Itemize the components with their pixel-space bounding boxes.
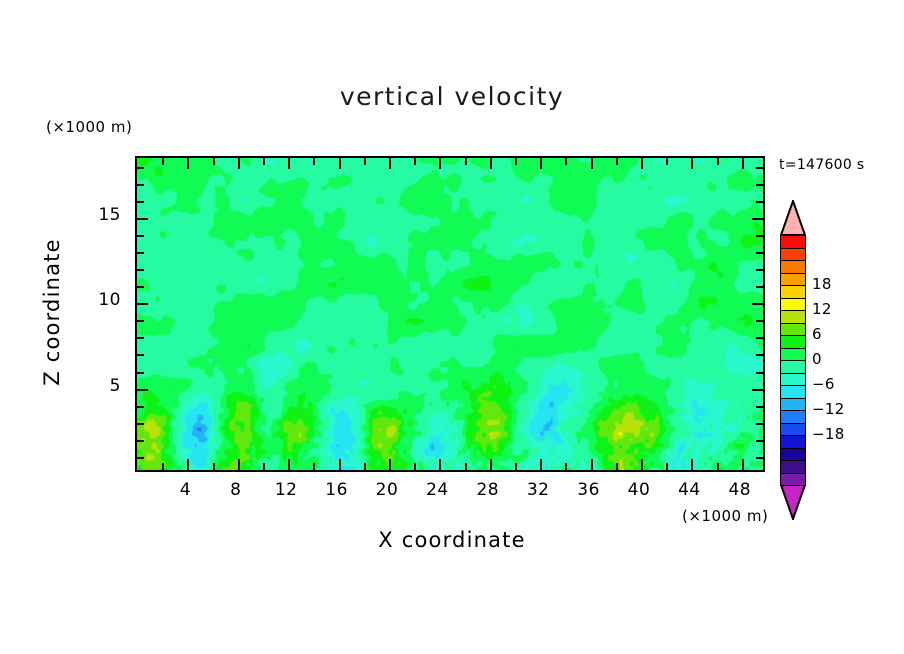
colorbar-band xyxy=(780,348,806,362)
colorbar-band xyxy=(780,410,806,424)
y-axis-title: Z coordinate xyxy=(40,202,64,422)
colorbar-band xyxy=(780,235,806,249)
colorbar-band xyxy=(780,423,806,437)
x-tick-top xyxy=(641,156,643,169)
x-tick-bottom xyxy=(616,463,618,472)
x-tick-label: 24 xyxy=(415,480,459,500)
x-tick-bottom xyxy=(666,463,668,472)
x-tick-top xyxy=(162,156,164,165)
y-tick-right xyxy=(756,252,765,254)
x-tick-top xyxy=(389,156,391,169)
y-tick-left xyxy=(135,167,144,169)
y-tick-left xyxy=(135,440,144,442)
y-tick-right xyxy=(756,201,765,203)
x-tick-bottom xyxy=(288,459,290,472)
x-tick-top xyxy=(490,156,492,169)
x-tick-bottom xyxy=(565,463,567,472)
x-tick-top xyxy=(213,156,215,165)
x-tick-top xyxy=(666,156,668,165)
x-tick-top xyxy=(616,156,618,165)
y-tick-right xyxy=(756,269,765,271)
colorbar-overflow-high-cap xyxy=(780,200,806,235)
x-tick-top xyxy=(414,156,416,165)
velocity-field-canvas xyxy=(137,158,763,470)
x-tick-bottom xyxy=(389,459,391,472)
x-tick-bottom xyxy=(641,459,643,472)
x-tick-label: 32 xyxy=(516,480,560,500)
x-tick-bottom xyxy=(591,459,593,472)
x-tick-bottom xyxy=(313,463,315,472)
colorbar-band xyxy=(780,260,806,274)
y-tick-left xyxy=(135,389,148,391)
y-tick-right xyxy=(756,372,765,374)
x-tick-bottom xyxy=(187,459,189,472)
x-tick-top xyxy=(238,156,240,169)
colorbar-band xyxy=(780,335,806,349)
x-tick-bottom xyxy=(515,463,517,472)
x-tick-label: 16 xyxy=(315,480,359,500)
x-axis-title: X coordinate xyxy=(0,528,904,552)
y-tick-right xyxy=(756,423,765,425)
x-tick-label: 36 xyxy=(567,480,611,500)
y-tick-left xyxy=(135,320,144,322)
y-tick-right xyxy=(752,218,765,220)
x-tick-top xyxy=(288,156,290,169)
x-tick-label: 12 xyxy=(264,480,308,500)
y-tick-right xyxy=(756,167,765,169)
y-tick-left xyxy=(135,218,148,220)
y-tick-right xyxy=(756,184,765,186)
y-tick-right xyxy=(756,337,765,339)
x-tick-top xyxy=(364,156,366,165)
x-tick-bottom xyxy=(742,459,744,472)
colorbar-band xyxy=(780,373,806,387)
x-tick-bottom xyxy=(540,459,542,472)
colorbar-band xyxy=(780,298,806,312)
colorbar-band xyxy=(780,273,806,287)
y-axis-unit-label: (×1000 m) xyxy=(46,118,132,136)
x-tick-top xyxy=(339,156,341,169)
colorbar-band xyxy=(780,473,806,487)
y-tick-left xyxy=(135,337,144,339)
y-tick-left xyxy=(135,423,144,425)
x-tick-bottom xyxy=(263,463,265,472)
x-tick-top xyxy=(742,156,744,169)
colorbar-band xyxy=(780,385,806,399)
x-tick-label: 44 xyxy=(667,480,711,500)
y-tick-left xyxy=(135,406,144,408)
time-annotation: t=147600 s xyxy=(779,157,864,173)
x-tick-bottom xyxy=(238,459,240,472)
y-tick-left xyxy=(135,372,144,374)
y-tick-right xyxy=(752,389,765,391)
y-tick-left xyxy=(135,303,148,305)
x-tick-top xyxy=(187,156,189,169)
x-tick-top xyxy=(465,156,467,165)
contour-plot-area xyxy=(135,156,765,472)
x-tick-label: 4 xyxy=(163,480,207,500)
y-tick-right xyxy=(756,457,765,459)
x-tick-label: 28 xyxy=(466,480,510,500)
x-tick-bottom xyxy=(339,459,341,472)
y-tick-left xyxy=(135,235,144,237)
colorbar-tick-label: −12 xyxy=(812,400,845,418)
x-tick-top xyxy=(691,156,693,169)
x-tick-bottom xyxy=(414,463,416,472)
y-tick-left xyxy=(135,286,144,288)
x-tick-label: 8 xyxy=(214,480,258,500)
colorbar-band xyxy=(780,360,806,374)
x-tick-top xyxy=(313,156,315,165)
colorbar-band xyxy=(780,398,806,412)
x-tick-top xyxy=(591,156,593,169)
x-tick-label: 40 xyxy=(617,480,661,500)
y-tick-right xyxy=(756,320,765,322)
y-tick-left xyxy=(135,354,144,356)
x-tick-bottom xyxy=(490,459,492,472)
colorbar-tick-label: 0 xyxy=(812,350,822,368)
y-tick-right xyxy=(756,286,765,288)
x-tick-bottom xyxy=(465,463,467,472)
colorbar-tick-label: −18 xyxy=(812,425,845,443)
y-tick-right xyxy=(756,235,765,237)
y-tick-left xyxy=(135,269,144,271)
x-axis-unit-label: (×1000 m) xyxy=(682,507,768,525)
y-tick-label: 5 xyxy=(87,376,121,396)
x-tick-top xyxy=(565,156,567,165)
x-tick-bottom xyxy=(439,459,441,472)
y-tick-left xyxy=(135,184,144,186)
colorbar-tick-label: 18 xyxy=(812,275,832,293)
x-tick-top xyxy=(515,156,517,165)
colorbar-tick-label: 12 xyxy=(812,300,832,318)
x-tick-bottom xyxy=(162,463,164,472)
x-tick-top xyxy=(263,156,265,165)
x-tick-top xyxy=(717,156,719,165)
x-tick-label: 48 xyxy=(718,480,762,500)
colorbar: 181260−6−12−18 xyxy=(780,200,808,520)
chart-title: vertical velocity xyxy=(0,82,904,111)
x-tick-label: 20 xyxy=(365,480,409,500)
x-tick-bottom xyxy=(364,463,366,472)
colorbar-band xyxy=(780,248,806,262)
y-tick-left xyxy=(135,457,144,459)
colorbar-band xyxy=(780,323,806,337)
colorbar-band xyxy=(780,285,806,299)
x-tick-top xyxy=(540,156,542,169)
y-tick-label: 10 xyxy=(87,290,121,310)
x-tick-top xyxy=(439,156,441,169)
colorbar-tick-label: −6 xyxy=(812,375,835,393)
y-tick-right xyxy=(756,440,765,442)
colorbar-tick-label: 6 xyxy=(812,325,822,343)
x-tick-bottom xyxy=(691,459,693,472)
x-tick-bottom xyxy=(213,463,215,472)
y-tick-right xyxy=(756,354,765,356)
colorbar-band xyxy=(780,435,806,449)
y-tick-left xyxy=(135,252,144,254)
colorbar-overflow-low-cap xyxy=(780,485,806,520)
colorbar-band xyxy=(780,460,806,474)
y-tick-right xyxy=(756,406,765,408)
colorbar-band xyxy=(780,448,806,462)
y-tick-right xyxy=(752,303,765,305)
x-tick-bottom xyxy=(717,463,719,472)
y-tick-left xyxy=(135,201,144,203)
colorbar-band xyxy=(780,310,806,324)
y-tick-label: 15 xyxy=(87,205,121,225)
